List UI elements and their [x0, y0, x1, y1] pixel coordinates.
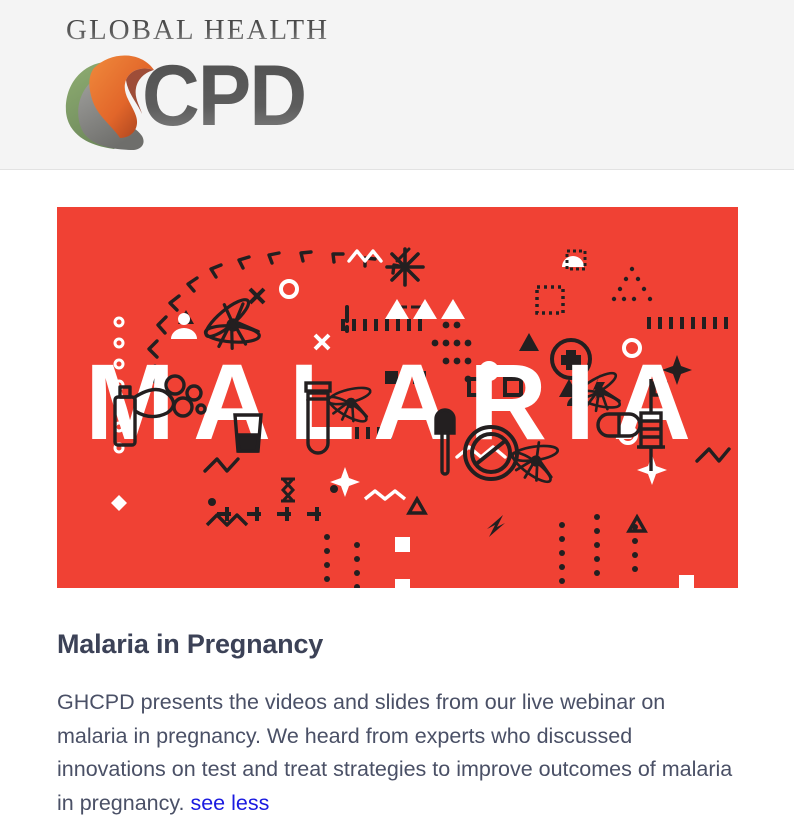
card-description: GHCPD presents the videos and slides fro… [57, 686, 738, 820]
page-title: Malaria in Pregnancy [57, 629, 738, 660]
svg-text:MALARIA: MALARIA [85, 341, 709, 462]
logo-wordmark: GLOBAL HEALTH [66, 14, 329, 47]
site-logo[interactable]: GLOBAL HEALTH [60, 14, 280, 154]
page-content: MALARIA [0, 170, 794, 820]
hero-banner-malaria[interactable]: MALARIA [57, 207, 738, 588]
see-less-link[interactable]: see less [190, 791, 269, 815]
site-header: GLOBAL HEALTH [0, 0, 794, 170]
card-description-text: GHCPD presents the videos and slides fro… [57, 690, 732, 815]
logo-acronym: CPD [142, 44, 305, 149]
